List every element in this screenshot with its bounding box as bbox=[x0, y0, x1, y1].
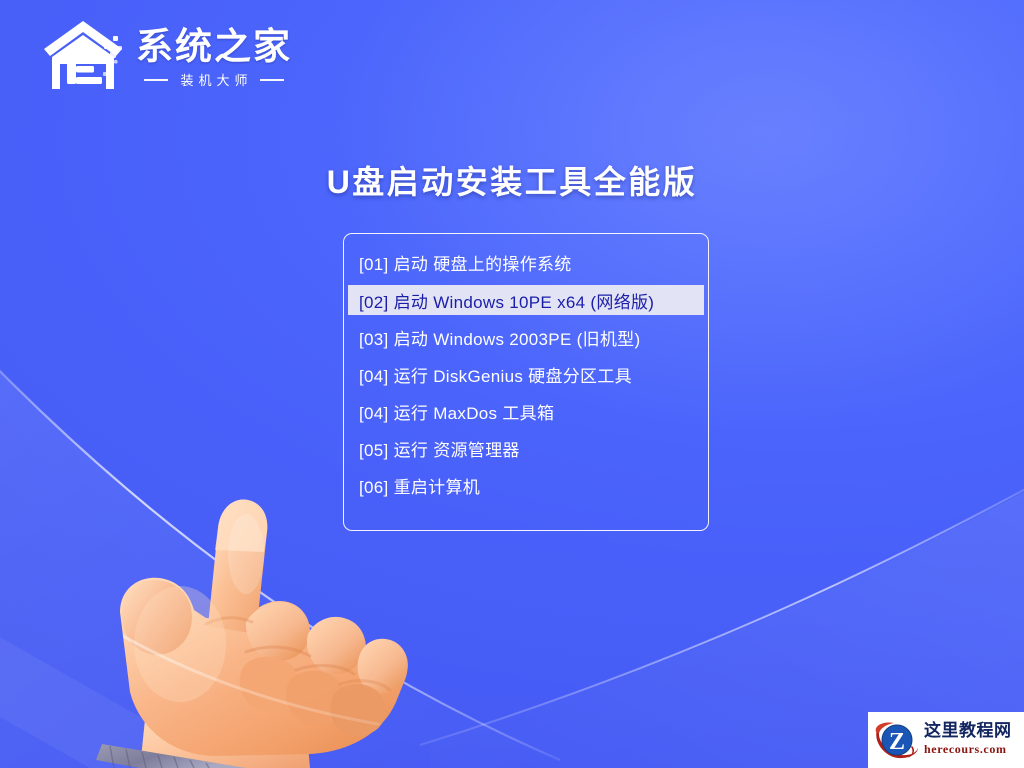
watermark-site-name: 这里教程网 bbox=[924, 723, 1012, 741]
badge-letter: Z bbox=[889, 729, 905, 755]
brand-subtitle: 装机大师 bbox=[175, 74, 252, 87]
brand-subtitle-row: 装机大师 bbox=[144, 74, 283, 87]
boot-menu-panel: [01] 启动 硬盘上的操作系统 [02] 启动 Windows 10PE x6… bbox=[343, 233, 709, 531]
page-title: U盘启动安装工具全能版 bbox=[0, 157, 1024, 203]
boot-menu-item-02[interactable]: [02] 启动 Windows 10PE x64 (网络版) bbox=[348, 285, 704, 315]
site-watermark: Z 这里教程网 herecours.com bbox=[868, 712, 1024, 768]
boot-menu-item-01[interactable]: [01] 启动 硬盘上的操作系统 bbox=[344, 248, 708, 277]
boot-menu-screen: 系统之家 装机大师 U盘启动安装工具全能版 [01] 启动 硬盘上的操作系统 [… bbox=[0, 0, 1024, 768]
house-logo-icon bbox=[40, 16, 126, 94]
brand-wordmark: 系统之家 装机大师 bbox=[136, 24, 292, 87]
boot-menu-item-04-diskgenius[interactable]: [04] 运行 DiskGenius 硬盘分区工具 bbox=[344, 360, 708, 389]
dash-right-icon bbox=[260, 79, 284, 81]
z-circle-badge-icon: Z bbox=[872, 716, 920, 764]
pointing-hand-illustration bbox=[96, 494, 426, 768]
dash-left-icon bbox=[144, 79, 168, 81]
watermark-site-url: herecours.com bbox=[924, 743, 1012, 757]
boot-menu-item-03[interactable]: [03] 启动 Windows 2003PE (旧机型) bbox=[344, 323, 708, 352]
watermark-text: 这里教程网 herecours.com bbox=[924, 723, 1012, 757]
boot-menu-item-04-maxdos[interactable]: [04] 运行 MaxDos 工具箱 bbox=[344, 397, 708, 426]
boot-menu-item-05[interactable]: [05] 运行 资源管理器 bbox=[344, 434, 708, 463]
brand-title: 系统之家 bbox=[136, 28, 292, 65]
boot-menu-list: [01] 启动 硬盘上的操作系统 [02] 启动 Windows 10PE x6… bbox=[344, 248, 708, 500]
brand-logo: 系统之家 装机大师 bbox=[40, 16, 292, 94]
